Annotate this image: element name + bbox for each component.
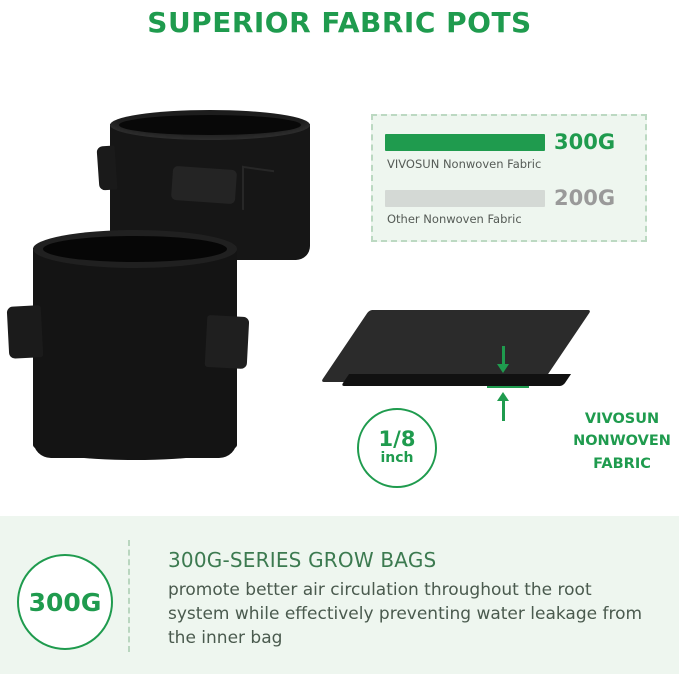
fabric-pots-photo	[0, 70, 340, 500]
banner-heading: 300G-SERIES GROW BAGS	[168, 548, 436, 572]
pot-front-rim-inner	[43, 236, 227, 262]
swatch-edge	[341, 374, 571, 386]
bar-label-300g: 300G	[554, 130, 615, 154]
swatch-label: VIVOSUN NONWOVEN FABRIC	[567, 408, 677, 475]
comparison-row-vivosun: 300G	[385, 130, 615, 154]
pot-front-bottom	[33, 430, 237, 460]
pot-back-handle-right	[171, 166, 237, 204]
feature-banner: 300G 300G-SERIES GROW BAGS promote bette…	[0, 516, 679, 674]
page-title: SUPERIOR FABRIC POTS	[0, 6, 679, 39]
fabric-swatch-illustration: 1/8 inch VIVOSUN NONWOVEN FABRIC	[335, 300, 679, 500]
swatch-label-line3: FABRIC	[567, 453, 677, 475]
caption-vivosun-fabric: VIVOSUN Nonwoven Fabric	[387, 157, 541, 171]
bar-label-200g: 200G	[554, 186, 615, 210]
fabric-pot-front	[10, 230, 260, 480]
swatch-label-line2: NONWOVEN	[567, 430, 677, 452]
swatch-thickness-guide	[487, 386, 529, 388]
pot-front-handle-right	[205, 315, 250, 369]
pot-back-handle-left	[96, 145, 117, 190]
fabric-weight-comparison: 300G VIVOSUN Nonwoven Fabric 200G Other …	[371, 114, 647, 242]
swatch-label-line1: VIVOSUN	[567, 408, 677, 430]
badge-300g: 300G	[17, 554, 113, 650]
swatch-surface	[321, 310, 592, 382]
pot-back-seam	[242, 166, 274, 214]
pot-back-rim-inner	[119, 115, 301, 135]
thickness-badge: 1/8 inch	[357, 408, 437, 488]
comparison-row-other: 200G	[385, 186, 615, 210]
pot-front-handle-left	[7, 305, 44, 359]
caption-other-fabric: Other Nonwoven Fabric	[387, 212, 522, 226]
banner-body-text: promote better air circulation throughou…	[168, 578, 648, 650]
banner-divider	[128, 540, 130, 652]
thickness-unit: inch	[380, 450, 413, 468]
bar-200g	[385, 190, 545, 207]
bar-300g	[385, 134, 545, 151]
thickness-value: 1/8	[379, 429, 416, 450]
